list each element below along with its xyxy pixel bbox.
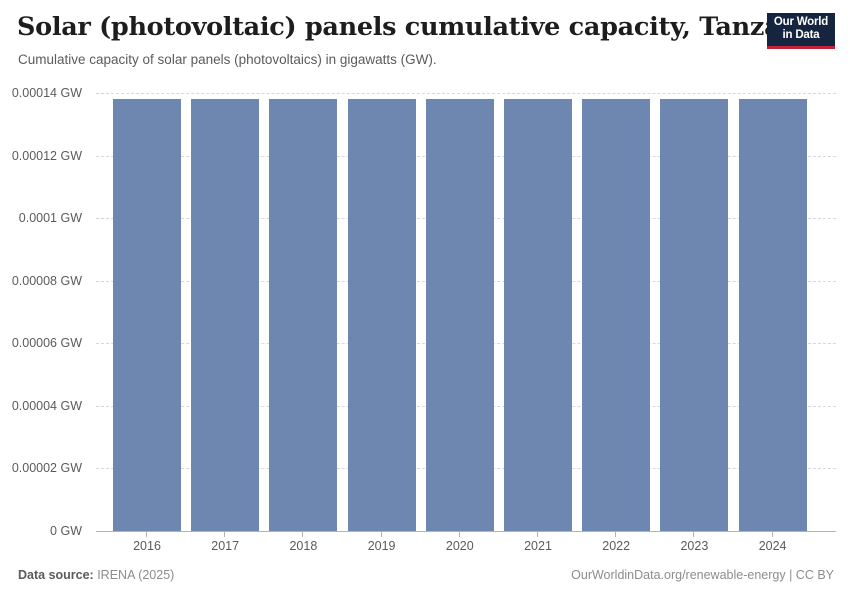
y-axis-tick-label: 0 GW bbox=[50, 524, 82, 538]
bar-group[interactable]: 2023 bbox=[660, 80, 728, 558]
bar[interactable] bbox=[191, 99, 259, 531]
x-axis-tick-mark bbox=[693, 531, 694, 537]
x-axis-tick-mark bbox=[615, 531, 616, 537]
x-axis-tick-label: 2021 bbox=[504, 539, 572, 553]
bar-group[interactable]: 2024 bbox=[739, 80, 807, 558]
y-axis-tick-label: 0.00008 GW bbox=[12, 274, 82, 288]
x-axis-tick-mark bbox=[772, 531, 773, 537]
x-axis-tick-mark bbox=[224, 531, 225, 537]
our-world-in-data-logo[interactable]: Our World in Data bbox=[767, 13, 835, 49]
bar-group[interactable]: 2017 bbox=[191, 80, 259, 558]
bar-group[interactable]: 2016 bbox=[113, 80, 181, 558]
bar-group[interactable]: 2020 bbox=[426, 80, 494, 558]
bar[interactable] bbox=[582, 99, 650, 531]
bar-group[interactable]: 2021 bbox=[504, 80, 572, 558]
logo-red-rule bbox=[767, 46, 835, 49]
logo-line-2: in Data bbox=[767, 29, 835, 42]
page-title: Solar (photovoltaic) panels cumulative c… bbox=[17, 12, 824, 42]
bar[interactable] bbox=[504, 99, 572, 531]
x-axis-tick-label: 2016 bbox=[113, 539, 181, 553]
y-axis-tick-label: 0.0001 GW bbox=[19, 211, 82, 225]
x-axis-tick-label: 2022 bbox=[582, 539, 650, 553]
data-source-value: IRENA (2025) bbox=[94, 568, 175, 582]
x-axis-tick-mark bbox=[381, 531, 382, 537]
x-axis-tick-mark bbox=[537, 531, 538, 537]
x-axis-tick-label: 2018 bbox=[269, 539, 337, 553]
bar[interactable] bbox=[269, 99, 337, 531]
chart-plot-area: 0 GW0.00002 GW0.00004 GW0.00006 GW0.0000… bbox=[0, 80, 850, 558]
y-axis-tick-label: 0.00004 GW bbox=[12, 399, 82, 413]
y-axis-tick-label: 0.00014 GW bbox=[12, 86, 82, 100]
bar-group[interactable]: 2018 bbox=[269, 80, 337, 558]
y-axis-tick-label: 0.00006 GW bbox=[12, 336, 82, 350]
x-axis-tick-mark bbox=[146, 531, 147, 537]
owid-url-link[interactable]: OurWorldinData.org/renewable-energy | CC… bbox=[571, 568, 834, 582]
bar-group[interactable]: 2019 bbox=[348, 80, 416, 558]
logo-line-1: Our World bbox=[767, 16, 835, 29]
bar[interactable] bbox=[426, 99, 494, 531]
bar-group[interactable]: 2022 bbox=[582, 80, 650, 558]
y-axis-tick-label: 0.00012 GW bbox=[12, 149, 82, 163]
bars-group: 201620172018201920202021202220232024 bbox=[113, 80, 816, 558]
data-source-text: Data source: IRENA (2025) bbox=[18, 568, 174, 582]
bar[interactable] bbox=[348, 99, 416, 531]
x-axis-tick-label: 2017 bbox=[191, 539, 259, 553]
bar[interactable] bbox=[739, 99, 807, 531]
x-axis-tick-mark bbox=[302, 531, 303, 537]
x-axis-tick-label: 2020 bbox=[426, 539, 494, 553]
x-axis-tick-mark bbox=[459, 531, 460, 537]
x-axis-tick-label: 2024 bbox=[739, 539, 807, 553]
chart-subtitle: Cumulative capacity of solar panels (pho… bbox=[18, 52, 437, 67]
bar[interactable] bbox=[660, 99, 728, 531]
chart-footer: Data source: IRENA (2025) OurWorldinData… bbox=[0, 560, 850, 600]
bar[interactable] bbox=[113, 99, 181, 531]
x-axis-tick-label: 2023 bbox=[660, 539, 728, 553]
x-axis-tick-label: 2019 bbox=[348, 539, 416, 553]
y-axis-tick-label: 0.00002 GW bbox=[12, 461, 82, 475]
chart-header: Solar (photovoltaic) panels cumulative c… bbox=[0, 0, 850, 80]
chart-page: Solar (photovoltaic) panels cumulative c… bbox=[0, 0, 850, 600]
data-source-label: Data source: bbox=[18, 568, 94, 582]
